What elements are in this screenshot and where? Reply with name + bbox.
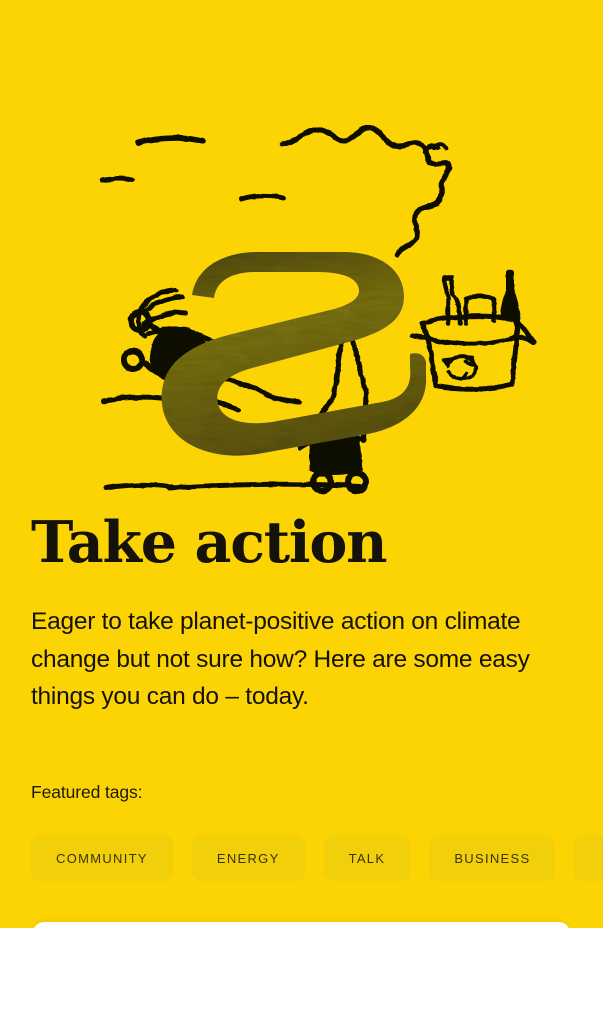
featured-tags-label: Featured tags: (31, 782, 142, 803)
tag-chip-energy[interactable]: ENERGY (192, 835, 305, 881)
tag-chip-business[interactable]: BUSINESS (429, 835, 555, 881)
tag-chip-talk[interactable]: TALK (324, 835, 411, 881)
hero-intro-text: Eager to take planet-positive action on … (31, 603, 531, 716)
tag-chip-community[interactable]: COMMUNITY (31, 835, 173, 881)
tag-chip-next-partial[interactable] (574, 835, 603, 881)
page-title: Take action (31, 513, 386, 573)
hero-section: Take action Eager to take planet-positiv… (0, 0, 603, 928)
person-on-roller-skates-carrying-recycling-box-illustration (0, 96, 603, 506)
app-screen: Take action Eager to take planet-positiv… (0, 0, 603, 1024)
bottom-navigation-bar: IMAGINE5 (0, 928, 603, 1024)
hero-illustration (0, 96, 603, 506)
featured-tags-list[interactable]: COMMUNITY ENERGY TALK BUSINESS (31, 835, 603, 881)
